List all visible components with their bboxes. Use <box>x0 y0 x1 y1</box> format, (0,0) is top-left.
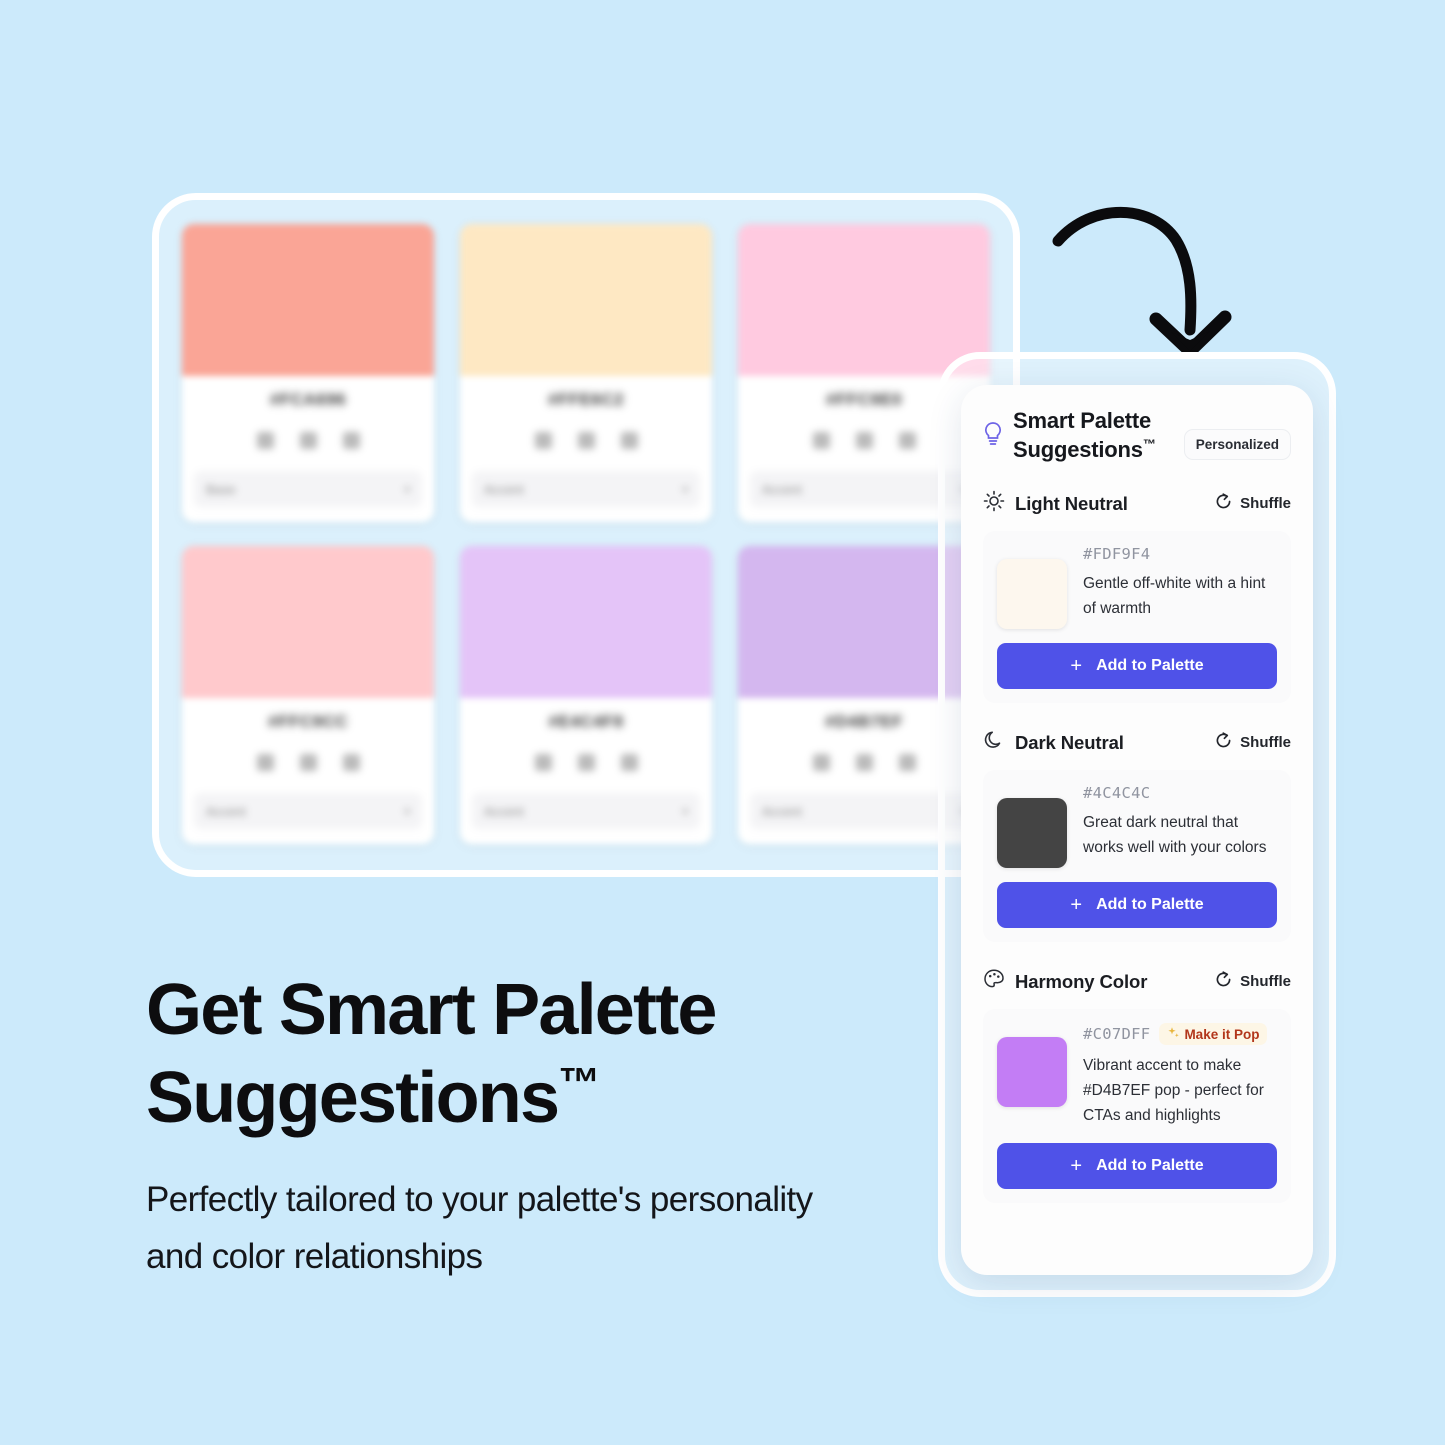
palette-card-actions[interactable] <box>535 432 638 449</box>
add-to-palette-button-harmony-color[interactable]: + Add to Palette <box>997 1143 1277 1189</box>
palette-card-hex: #FFE6C2 <box>548 390 624 410</box>
suggestion-card-harmony-color: #C07DFF Make it Pop Vibrant accent to ma… <box>983 1009 1291 1202</box>
page-headline: Get Smart Palette Suggestions™ <box>146 967 906 1143</box>
palette-card-hex: #FFC9CC <box>268 712 348 732</box>
suggestion-description: Great dark neutral that works well with … <box>1083 810 1277 860</box>
section-header-dark-neutral: Dark Neutral Shuffle <box>983 729 1291 756</box>
trademark-symbol: ™ <box>558 1059 599 1106</box>
copy-icon[interactable] <box>813 432 830 449</box>
sun-icon <box>983 490 1005 517</box>
palette-card[interactable]: #FFE6C2 Accent▾ <box>460 224 712 522</box>
moon-icon <box>983 729 1005 756</box>
palette-card-role-label: Accent <box>206 804 246 819</box>
chevron-down-icon: ▾ <box>404 805 410 818</box>
lock-icon[interactable] <box>300 432 317 449</box>
plus-icon: + <box>1070 1156 1082 1176</box>
refresh-icon <box>1214 492 1233 516</box>
delete-icon[interactable] <box>343 432 360 449</box>
suggestion-hex: #4C4C4C <box>1083 784 1150 802</box>
suggestion-card-light-neutral: #FDF9F4 Gentle off-white with a hint of … <box>983 531 1291 703</box>
section-header-harmony-color: Harmony Color Shuffle <box>983 968 1291 995</box>
palette-card[interactable]: #FCA696 Base▾ <box>182 224 434 522</box>
lock-icon[interactable] <box>300 754 317 771</box>
lock-icon[interactable] <box>856 754 873 771</box>
sparkle-icon <box>1167 1026 1180 1042</box>
palette-card-swatch <box>182 224 434 376</box>
copy-icon[interactable] <box>257 754 274 771</box>
lock-icon[interactable] <box>578 754 595 771</box>
section-header-light-neutral: Light Neutral Shuffle <box>983 490 1291 517</box>
smart-palette-suggestions-panel: Smart Palette Suggestions™ Personalized … <box>961 385 1313 1275</box>
shuffle-button-dark-neutral[interactable]: Shuffle <box>1214 731 1291 755</box>
palette-card-actions[interactable] <box>813 432 916 449</box>
palette-card-role-label: Accent <box>762 804 802 819</box>
lock-icon[interactable] <box>578 432 595 449</box>
refresh-icon <box>1214 970 1233 994</box>
palette-card-swatch <box>182 546 434 698</box>
section-title: Dark Neutral <box>1015 732 1124 754</box>
lightbulb-icon <box>983 421 1003 452</box>
palette-card-hex: #D4B7EF <box>825 712 903 732</box>
panel-header: Smart Palette Suggestions™ Personalized <box>983 407 1291 464</box>
suggestion-swatch[interactable] <box>997 1037 1067 1107</box>
palette-card-swatch <box>738 224 990 376</box>
copy-icon[interactable] <box>535 432 552 449</box>
suggestion-swatch[interactable] <box>997 798 1067 868</box>
add-to-palette-label: Add to Palette <box>1096 657 1204 675</box>
add-to-palette-label: Add to Palette <box>1096 1157 1204 1175</box>
suggestion-description: Vibrant accent to make #D4B7EF pop - per… <box>1083 1053 1277 1128</box>
make-it-pop-label: Make it Pop <box>1184 1027 1259 1042</box>
palette-card-hex: #FCA696 <box>270 390 346 410</box>
section-title: Harmony Color <box>1015 971 1147 993</box>
palette-card-actions[interactable] <box>257 432 360 449</box>
delete-icon[interactable] <box>899 754 916 771</box>
delete-icon[interactable] <box>343 754 360 771</box>
plus-icon: + <box>1070 656 1082 676</box>
palette-card-swatch <box>460 224 712 376</box>
suggestion-hex: #FDF9F4 <box>1083 545 1150 563</box>
section-title: Light Neutral <box>1015 493 1128 515</box>
chevron-down-icon: ▾ <box>682 483 688 496</box>
suggestion-card-dark-neutral: #4C4C4C Great dark neutral that works we… <box>983 770 1291 942</box>
palette-card-actions[interactable] <box>813 754 916 771</box>
suggestion-swatch[interactable] <box>997 559 1067 629</box>
lock-icon[interactable] <box>856 432 873 449</box>
palette-card-actions[interactable] <box>535 754 638 771</box>
palette-card-hex: #E4C4F8 <box>548 712 623 732</box>
palette-card-role-select[interactable]: Accent▾ <box>472 471 700 507</box>
palette-card[interactable]: #E4C4F8 Accent▾ <box>460 546 712 844</box>
chevron-down-icon: ▾ <box>404 483 410 496</box>
shuffle-button-harmony-color[interactable]: Shuffle <box>1214 970 1291 994</box>
panel-title-line1: Smart Palette <box>1013 408 1151 433</box>
palette-card-role-label: Accent <box>762 482 802 497</box>
palette-card-role-select[interactable]: Base▾ <box>194 471 422 507</box>
copy-icon[interactable] <box>257 432 274 449</box>
palette-card-swatch <box>460 546 712 698</box>
chevron-down-icon: ▾ <box>682 805 688 818</box>
palette-card-actions[interactable] <box>257 754 360 771</box>
add-to-palette-label: Add to Palette <box>1096 896 1204 914</box>
delete-icon[interactable] <box>621 754 638 771</box>
delete-icon[interactable] <box>621 432 638 449</box>
add-to-palette-button-light-neutral[interactable]: + Add to Palette <box>997 643 1277 689</box>
personalized-badge: Personalized <box>1184 429 1291 460</box>
headline-line1: Get Smart Palette <box>146 970 716 1050</box>
palette-grid: #FCA696 Base▾ #FFE6C2 Accent▾ #FFC9E0 Ac… <box>182 224 992 852</box>
palette-card-role-select[interactable]: Accent▾ <box>472 793 700 829</box>
palette-card-role-label: Base <box>206 482 236 497</box>
shuffle-button-light-neutral[interactable]: Shuffle <box>1214 492 1291 516</box>
page-subcopy: Perfectly tailored to your palette's per… <box>146 1172 866 1285</box>
palette-card-role-label: Accent <box>484 804 524 819</box>
copy-icon[interactable] <box>535 754 552 771</box>
palette-card-role-label: Accent <box>484 482 524 497</box>
shuffle-label: Shuffle <box>1240 973 1291 990</box>
palette-card-role-select[interactable]: Accent▾ <box>194 793 422 829</box>
add-to-palette-button-dark-neutral[interactable]: + Add to Palette <box>997 882 1277 928</box>
panel-title: Smart Palette Suggestions™ <box>1013 407 1174 464</box>
shuffle-label: Shuffle <box>1240 734 1291 751</box>
shuffle-label: Shuffle <box>1240 495 1291 512</box>
trademark-symbol: ™ <box>1143 436 1156 451</box>
palette-icon <box>983 968 1005 995</box>
suggestion-description: Gentle off-white with a hint of warmth <box>1083 571 1277 621</box>
copy-icon[interactable] <box>813 754 830 771</box>
palette-card-hex: #FFC9E0 <box>826 390 902 410</box>
palette-card[interactable]: #FFC9CC Accent▾ <box>182 546 434 844</box>
refresh-icon <box>1214 731 1233 755</box>
headline-line2: Suggestions <box>146 1058 558 1138</box>
plus-icon: + <box>1070 895 1082 915</box>
panel-title-line2: Suggestions <box>1013 437 1143 462</box>
make-it-pop-badge[interactable]: Make it Pop <box>1159 1023 1267 1045</box>
delete-icon[interactable] <box>899 432 916 449</box>
curved-down-arrow-icon <box>1040 188 1270 373</box>
suggestion-hex: #C07DFF <box>1083 1025 1150 1043</box>
